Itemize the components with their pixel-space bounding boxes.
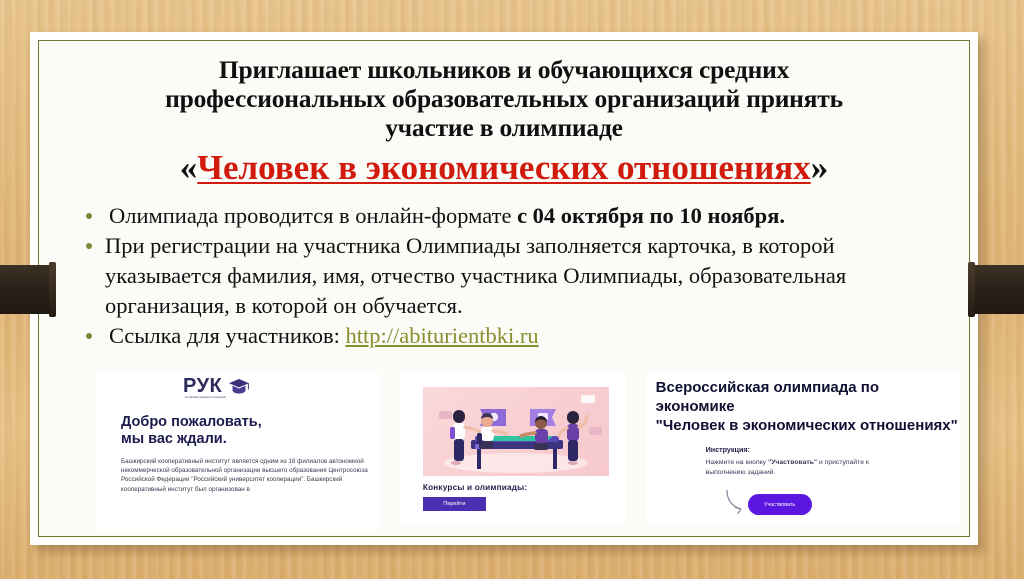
ruk-logo-subtitle: Российский университет кооперации bbox=[185, 396, 237, 399]
instruction-title: Инструкция: bbox=[706, 445, 961, 454]
olympiad-start-screenshot: Всероссийская олимпиада по экономике "Че… bbox=[646, 372, 961, 524]
list-item: Олимпиада проводится в онлайн-формате с … bbox=[73, 201, 945, 231]
screenshot-row: РУК Российский университет кооперации До… bbox=[47, 372, 961, 530]
instruction-block: Инструкция: Нажмите на кнопку "Участвова… bbox=[646, 435, 961, 478]
bullet-dot-icon bbox=[86, 213, 92, 219]
olympiad-title: «Человек в экономических отношениях» bbox=[73, 148, 935, 195]
olympiad-start-title-line-1: Всероссийская олимпиада по экономике bbox=[646, 378, 961, 416]
heading-line-2: профессиональных образовательных организ… bbox=[73, 84, 935, 113]
ruk-website-screenshot: РУК Российский университет кооперации До… bbox=[97, 372, 379, 530]
ruk-logo-word: РУК bbox=[183, 375, 222, 398]
instruction-body: Нажмите на кнопку "Участвовать" и присту… bbox=[706, 458, 881, 478]
list-item: Ссылка для участников: http://abiturient… bbox=[73, 321, 945, 351]
ruk-logo: РУК bbox=[97, 372, 379, 398]
list-item: При регистрации на участника Олимпиады з… bbox=[73, 231, 945, 321]
welcome-paragraph: Башкирский кооперативный институт являет… bbox=[121, 457, 373, 494]
contests-olympiads-screenshot: Конкурсы и олимпиады: Перейти bbox=[401, 372, 626, 524]
people-at-table-illustration bbox=[423, 387, 609, 476]
curved-arrow-icon bbox=[724, 488, 750, 516]
left-decorative-band bbox=[0, 265, 54, 314]
slide-card-inner: Приглашает школьников и обучающихся сред… bbox=[38, 40, 970, 537]
instruction-button-name: "Участвовать" bbox=[768, 459, 817, 466]
olympiad-title-text: Человек в экономических отношениях bbox=[197, 148, 810, 187]
go-button[interactable]: Перейти bbox=[423, 497, 486, 511]
graduation-cap-icon bbox=[228, 378, 250, 395]
right-decorative-band bbox=[970, 265, 1024, 314]
bullet-dot-icon bbox=[86, 333, 92, 339]
participate-button[interactable]: Участвовать bbox=[748, 494, 812, 515]
bullet-list: Олимпиада проводится в онлайн-формате с … bbox=[39, 201, 969, 351]
slide-card: Приглашает школьников и обучающихся сред… bbox=[30, 32, 978, 545]
heading-line-1: Приглашает школьников и обучающихся сред… bbox=[73, 55, 935, 84]
olympiad-start-title-line-2: "Человек в экономических отношениях" bbox=[646, 416, 961, 435]
bullet-2-text: При регистрации на участника Олимпиады з… bbox=[105, 233, 846, 318]
participate-button-row: Участвовать bbox=[646, 494, 961, 515]
welcome-heading-line-2: мы вас ждали. bbox=[121, 431, 373, 448]
heading-block: Приглашает школьников и обучающихся сред… bbox=[39, 41, 969, 195]
welcome-heading-line-1: Добро пожаловать, bbox=[121, 414, 373, 431]
instruction-text-before: Нажмите на кнопку bbox=[706, 459, 768, 466]
bullet-1-text: Олимпиада проводится в онлайн-формате bbox=[109, 203, 517, 228]
bullet-1-dates: с 04 октября по 10 ноября. bbox=[517, 203, 785, 228]
participants-link[interactable]: http://abiturientbki.ru bbox=[345, 323, 538, 348]
heading-line-3: участие в олимпиаде bbox=[73, 113, 935, 142]
bullet-dot-icon bbox=[86, 243, 92, 249]
quote-open: « bbox=[180, 148, 198, 187]
teamwork-illustration bbox=[423, 387, 609, 476]
bullet-3-text: Ссылка для участников: bbox=[109, 323, 345, 348]
contests-caption: Конкурсы и олимпиады: bbox=[423, 483, 626, 492]
quote-close: » bbox=[811, 148, 829, 187]
welcome-card: Добро пожаловать, мы вас ждали. Башкирск… bbox=[111, 406, 379, 502]
olympiad-start-heading: Всероссийская олимпиада по экономике "Че… bbox=[646, 372, 961, 435]
